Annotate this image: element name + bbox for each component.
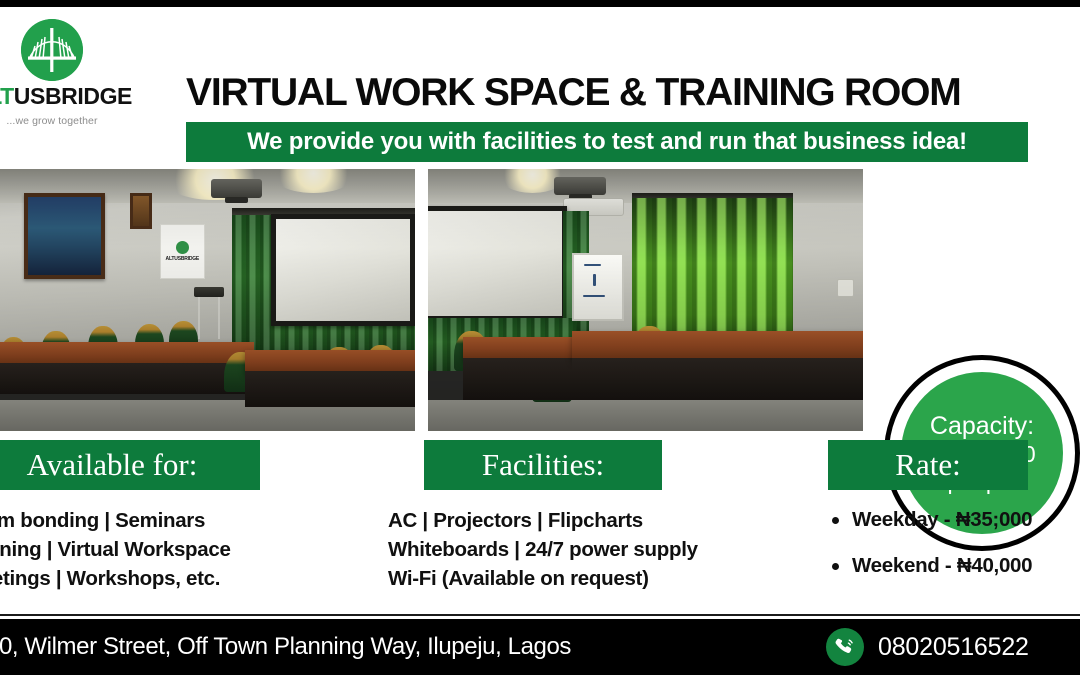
rate-item-weekend: Weekend - ₦40,000 <box>828 554 1080 578</box>
header-section: ALTUSBRIDGE ...we grow together VIRTUAL … <box>0 7 1080 168</box>
facilities-line-3: Wi-Fi (Available on request) <box>388 564 808 593</box>
capacity-label: Capacity: <box>930 412 1034 441</box>
phone-ringing-icon <box>826 628 864 666</box>
column-rate: Rate: Weekday - ₦35;000 Weekend - ₦40,00… <box>828 440 1080 600</box>
column-heading-rate: Rate: <box>828 440 1028 490</box>
facilities-line-2: Whiteboards | 24/7 power supply <box>388 535 808 564</box>
rate-item-weekday: Weekday - ₦35;000 <box>828 508 1080 532</box>
column-heading-facilities: Facilities: <box>424 440 662 490</box>
top-accent-bar <box>0 0 1080 7</box>
brand-logo: ALTUSBRIDGE ...we grow together <box>0 19 140 149</box>
page-title: VIRTUAL WORK SPACE & TRAINING ROOM <box>186 73 1028 112</box>
footer-contact[interactable]: 08020516522 <box>826 628 1029 666</box>
available-line-1: Team bonding | Seminars <box>0 506 294 535</box>
brand-tagline: ...we grow together <box>0 115 140 127</box>
footer-phone-number[interactable]: 08020516522 <box>878 633 1029 662</box>
column-facilities: Facilities: AC | Projectors | Flipcharts… <box>388 440 808 593</box>
available-line-2: Training | Virtual Workspace <box>0 535 294 564</box>
footer-divider <box>0 614 1080 616</box>
column-available-for: Available for: Team bonding | Seminars T… <box>0 440 294 593</box>
info-columns: Available for: Team bonding | Seminars T… <box>0 440 1080 617</box>
available-line-3: Meetings | Workshops, etc. <box>0 564 294 593</box>
facilities-line-1: AC | Projectors | Flipcharts <box>388 506 808 535</box>
column-heading-available: Available for: <box>0 440 260 490</box>
brand-wordmark-black: USBRIDGE <box>14 83 132 109</box>
column-body-facilities: AC | Projectors | Flipcharts Whiteboards… <box>388 506 808 593</box>
brand-wordmark-green: ALT <box>0 83 14 109</box>
bridge-icon <box>21 19 83 81</box>
rate-list: Weekday - ₦35;000 Weekend - ₦40,000 <box>828 508 1080 578</box>
photo-gallery: ALTUSBRIDGE <box>0 169 1080 431</box>
subtitle-banner: We provide you with facilities to test a… <box>186 122 1028 162</box>
column-body-available: Team bonding | Seminars Training | Virtu… <box>0 506 294 593</box>
photo-training-room-right <box>428 169 863 431</box>
photo-training-room-left: ALTUSBRIDGE <box>0 169 415 431</box>
footer-address: 10, Wilmer Street, Off Town Planning Way… <box>0 633 571 661</box>
brand-wordmark: ALTUSBRIDGE <box>0 85 140 108</box>
flyer-poster: ALTUSBRIDGE ...we grow together VIRTUAL … <box>0 0 1080 675</box>
footer-bar: 10, Wilmer Street, Off Town Planning Way… <box>0 619 1080 675</box>
